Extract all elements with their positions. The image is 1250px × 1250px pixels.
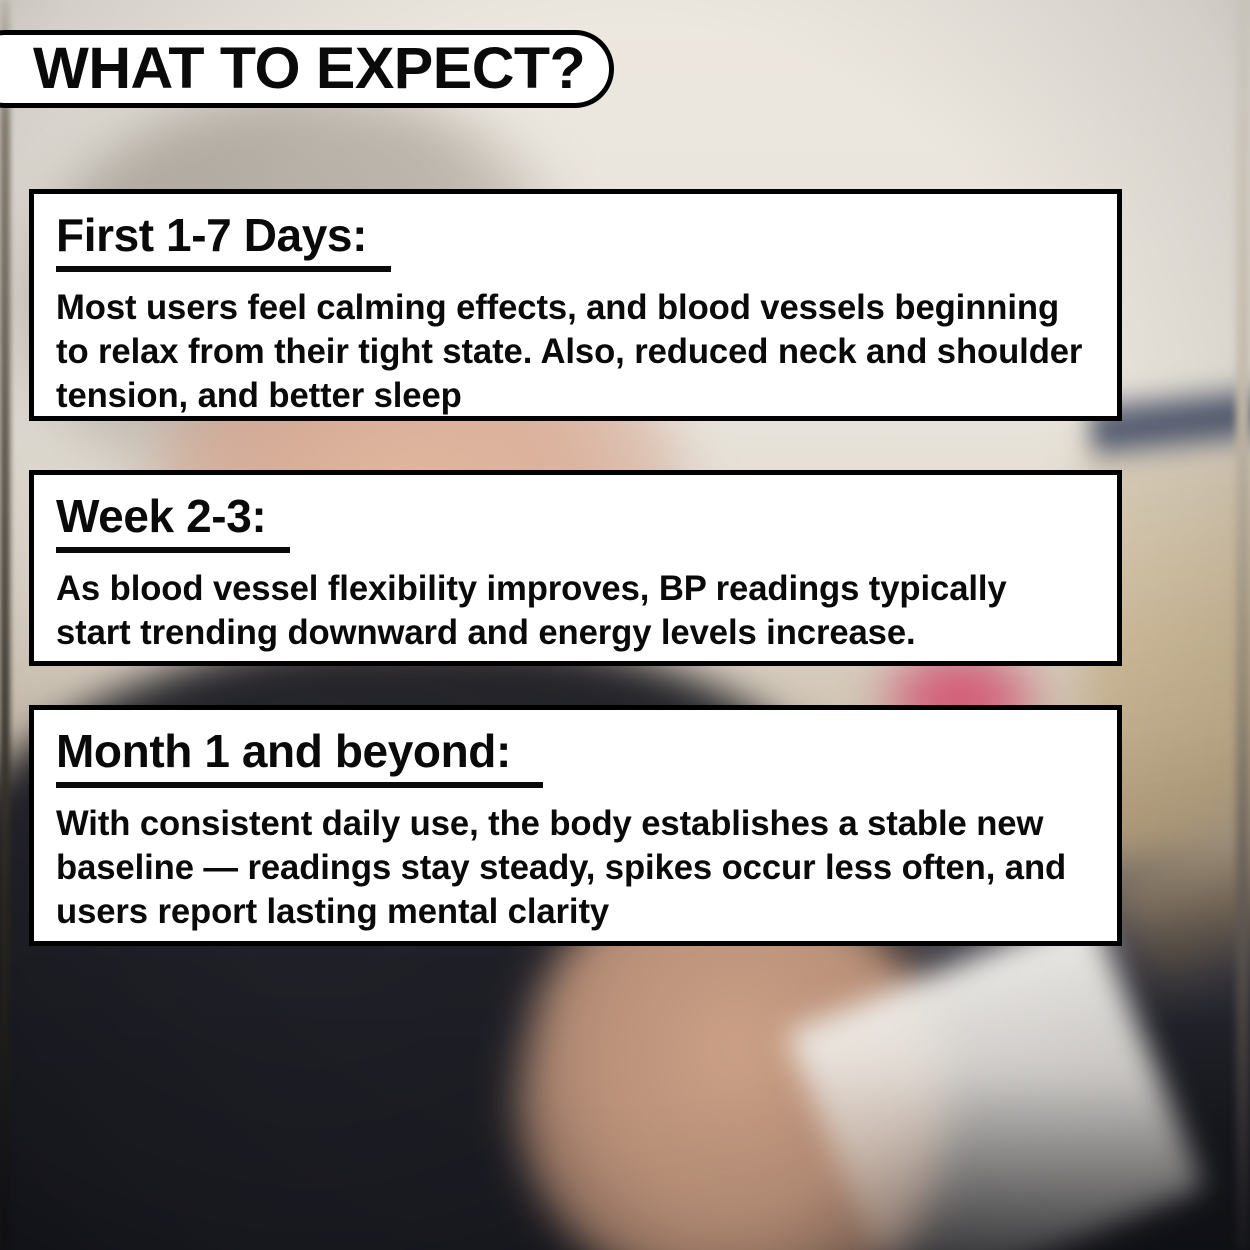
heading-underline	[56, 547, 290, 553]
heading-underline	[56, 782, 543, 788]
card-body: With consistent daily use, the body esta…	[56, 802, 1085, 934]
card-heading: Week 2-3:	[56, 493, 266, 541]
page-title: WHAT TO EXPECT?	[33, 40, 585, 98]
card-heading: First 1-7 Days:	[56, 212, 367, 260]
card-body: As blood vessel flexibility improves, BP…	[56, 567, 1085, 655]
card-heading: Month 1 and beyond:	[56, 728, 511, 776]
header-pill: WHAT TO EXPECT?	[0, 30, 614, 108]
expectation-card-month-1: Month 1 and beyond: With consistent dail…	[29, 705, 1122, 946]
heading-underline	[56, 266, 391, 272]
expectation-card-week-2-3: Week 2-3: As blood vessel flexibility im…	[29, 470, 1122, 666]
slide-canvas: WHAT TO EXPECT? First 1-7 Days: Most use…	[0, 0, 1250, 1250]
card-body: Most users feel calming effects, and blo…	[56, 286, 1085, 418]
expectation-card-first-week: First 1-7 Days: Most users feel calming …	[29, 189, 1122, 421]
